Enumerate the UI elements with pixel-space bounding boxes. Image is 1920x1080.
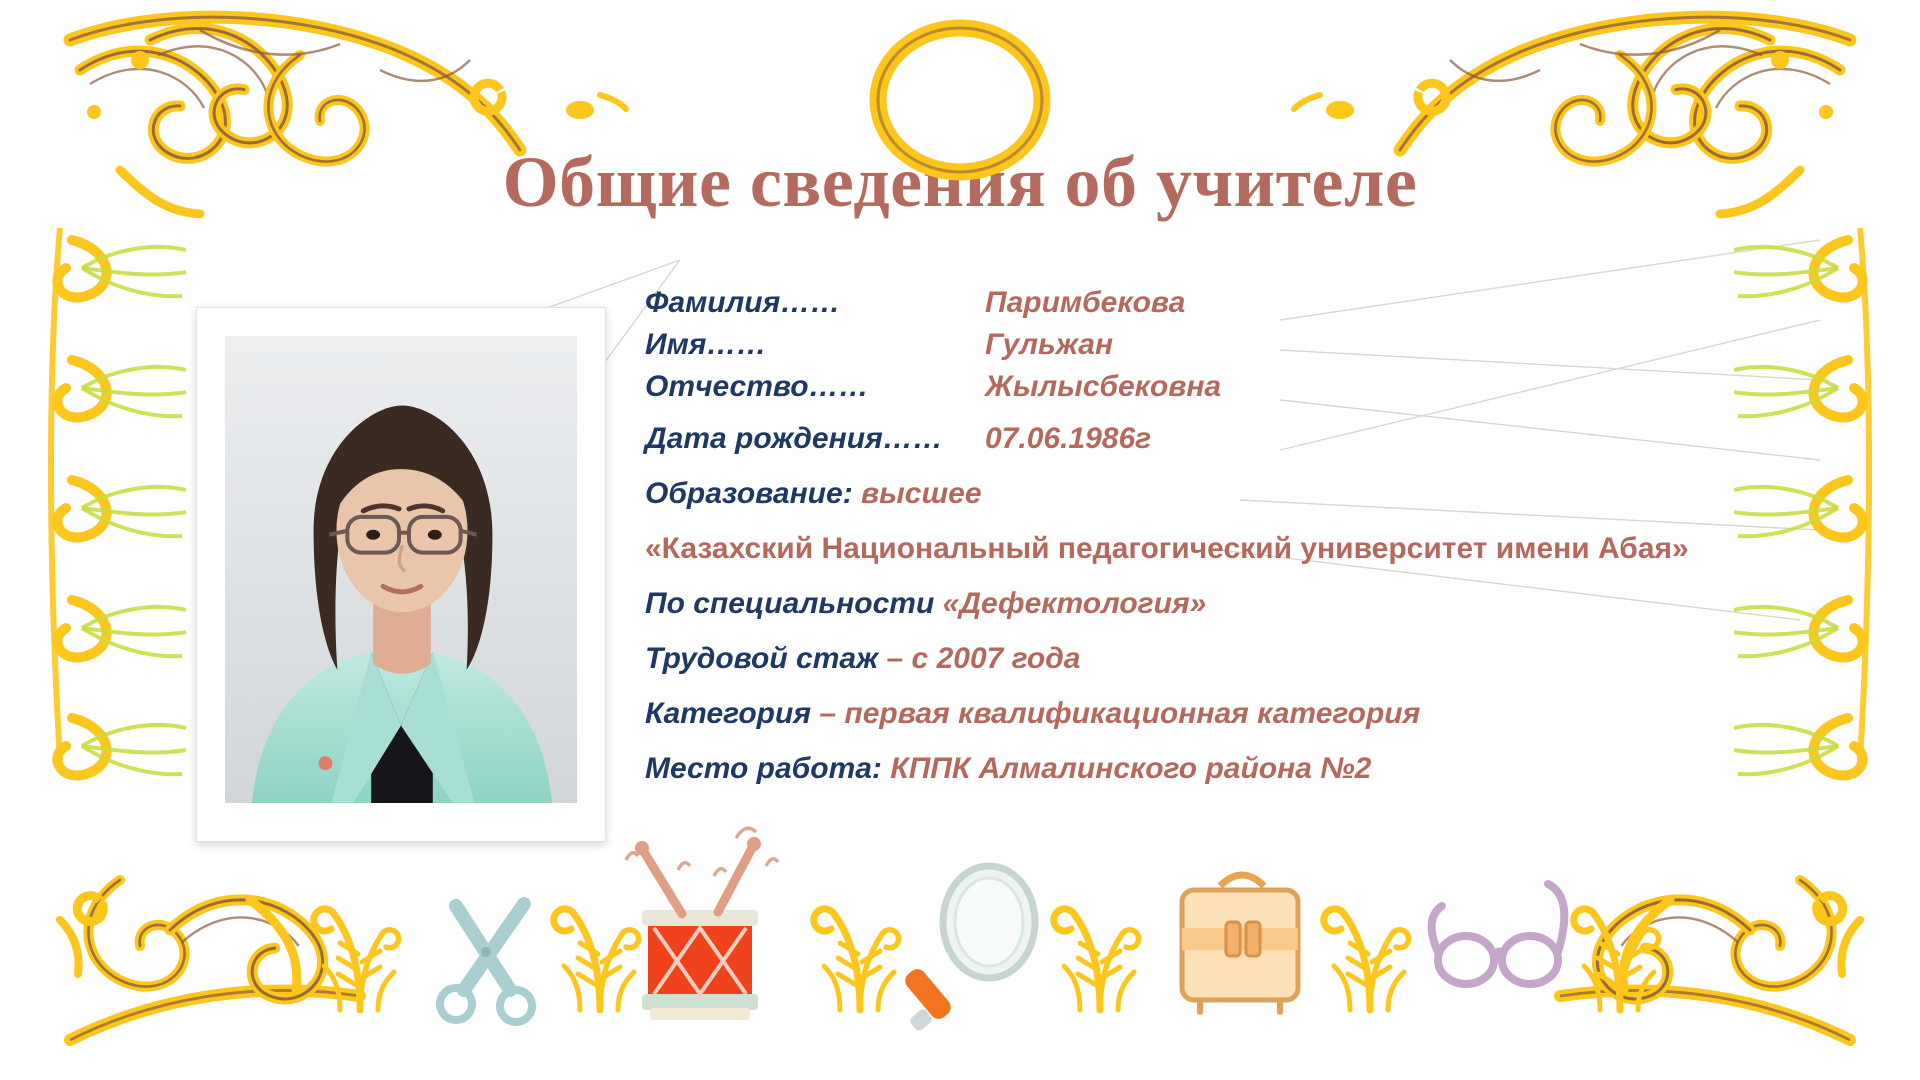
info-row-university: «Казахский Национальный педагогический у… xyxy=(645,534,1805,564)
info-row-firstname: Имя…… Гульжан xyxy=(645,330,1805,360)
wheat-swirl-ornament xyxy=(814,909,899,1010)
value-category: – первая квалификационная категория xyxy=(819,697,1420,730)
label-workplace: Место работа: xyxy=(645,752,882,785)
magnifier-icon xyxy=(902,866,1035,1033)
corner-ornament-bottom-left xyxy=(60,880,360,1040)
wheat-swirl-ornament xyxy=(1324,909,1409,1010)
label-birthdate: Дата рождения…… xyxy=(645,424,985,454)
value-workplace: КППК Алмалинского района №2 xyxy=(890,752,1371,785)
wheat-swirl-ornament xyxy=(1054,909,1139,1010)
bottom-ornament-band xyxy=(60,828,1860,1040)
value-birthdate: 07.06.1986г xyxy=(985,424,1151,454)
briefcase-icon xyxy=(1182,875,1298,1012)
scissors-icon xyxy=(440,904,532,1022)
label-category: Категория xyxy=(645,697,811,730)
glasses-icon xyxy=(1432,884,1565,984)
teacher-photo-frame xyxy=(196,307,606,842)
info-row-workplace: Место работа: КППК Алмалинского района №… xyxy=(645,754,1805,784)
label-experience: Трудовой стаж xyxy=(645,642,878,675)
label-specialty: По специальности xyxy=(645,587,934,620)
info-row-patronymic: Отчество…… Жылысбековна xyxy=(645,372,1805,402)
drum-icon xyxy=(626,828,778,1020)
info-row-birthdate: Дата рождения…… 07.06.1986г xyxy=(645,424,1805,454)
wheat-swirl-ornament xyxy=(314,909,399,1010)
corner-ornament-bottom-right xyxy=(1560,880,1860,1040)
label-surname: Фамилия…… xyxy=(645,288,985,318)
info-row-surname: Фамилия…… Паримбекова xyxy=(645,288,1805,318)
value-experience: – с 2007 года xyxy=(887,642,1081,675)
wheat-swirl-ornament xyxy=(1574,909,1659,1010)
info-row-category: Категория – первая квалификационная кате… xyxy=(645,699,1805,729)
value-firstname: Гульжан xyxy=(985,330,1113,360)
page-title: Общие сведения об учителе xyxy=(0,146,1920,218)
wheat-swirl-ornament xyxy=(554,909,639,1010)
slide-root: Общие сведения об учителе xyxy=(0,0,1920,1080)
label-firstname: Имя…… xyxy=(645,330,985,360)
teacher-info-block: Фамилия…… Паримбекова Имя…… Гульжан Отче… xyxy=(645,288,1805,809)
value-surname: Паримбекова xyxy=(985,288,1185,318)
value-specialty: «Дефектология» xyxy=(943,587,1207,620)
info-row-experience: Трудовой стаж – с 2007 года xyxy=(645,644,1805,674)
label-education: Образование: xyxy=(645,477,853,510)
value-education: высшее xyxy=(861,477,981,510)
info-row-specialty: По специальности «Дефектология» xyxy=(645,589,1805,619)
label-patronymic: Отчество…… xyxy=(645,372,985,402)
teacher-photo xyxy=(225,336,577,803)
value-patronymic: Жылысбековна xyxy=(985,372,1221,402)
info-row-education: Образование: высшее xyxy=(645,479,1805,509)
